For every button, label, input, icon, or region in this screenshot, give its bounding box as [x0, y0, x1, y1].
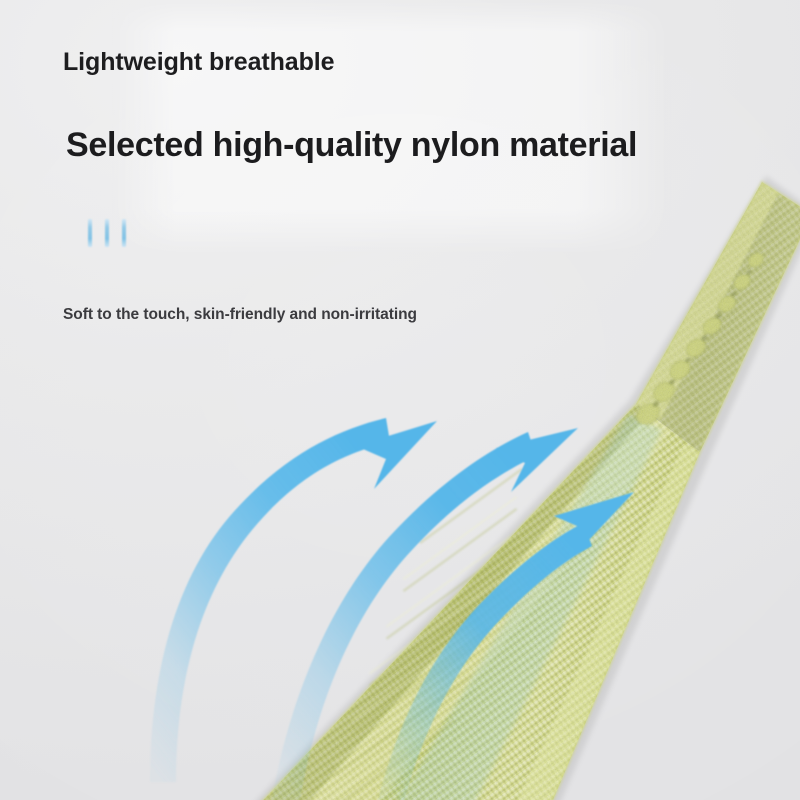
tick-mark-2 — [105, 219, 109, 247]
headline-lightweight-breathable: Lightweight breathable — [63, 48, 334, 77]
tick-marks-divider — [88, 219, 126, 247]
tick-mark-3 — [122, 219, 126, 247]
subline-soft-touch: Soft to the touch, skin-friendly and non… — [63, 306, 417, 324]
headline-nylon-material: Selected high-quality nylon material — [66, 126, 637, 165]
tick-mark-1 — [88, 219, 92, 247]
text-content: Lightweight breathable Selected high-qua… — [0, 0, 800, 800]
product-feature-image: Lightweight breathable Selected high-qua… — [0, 0, 800, 800]
